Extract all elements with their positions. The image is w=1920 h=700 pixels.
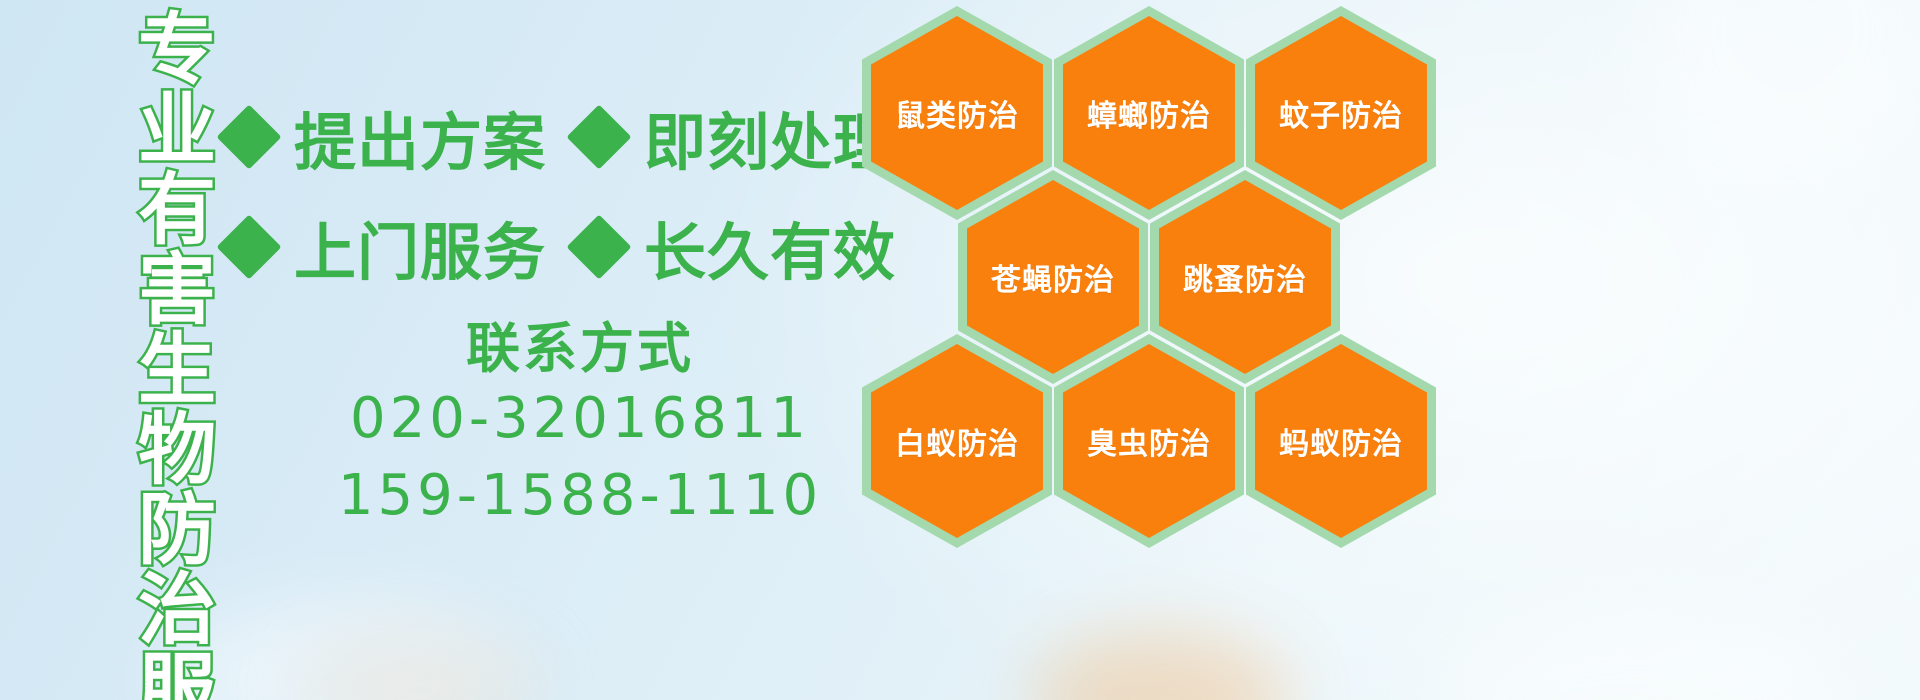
hex-label: 白蚁防治 <box>862 334 1052 548</box>
diamond-icon <box>566 104 631 169</box>
feature-row: 上门服务 长久有效 <box>226 192 866 302</box>
feature-label: 提出方案 <box>294 92 546 182</box>
hex-cell-termite[interactable]: 白蚁防治 <box>862 334 1052 548</box>
diamond-icon <box>566 214 631 279</box>
background-blur-blob <box>300 630 540 700</box>
hex-label: 蚂蚁防治 <box>1246 334 1436 548</box>
contact-title: 联系方式 <box>300 318 860 380</box>
feature-list: 提出方案 即刻处理 上门服务 长久有效 <box>226 82 866 302</box>
hex-label: 臭虫防治 <box>1054 334 1244 548</box>
feature-label: 即刻处理 <box>644 92 896 182</box>
background-blur-blob <box>1640 0 1920 180</box>
vertical-headline: 专业有害生物防治服务 <box>104 8 208 698</box>
hex-cell-bedbug[interactable]: 臭虫防治 <box>1054 334 1244 548</box>
feature-label: 上门服务 <box>294 202 546 292</box>
phone-number-mobile[interactable]: 159-1588-1110 <box>300 457 860 534</box>
phone-number-landline[interactable]: 020-32016811 <box>300 380 860 457</box>
background-blur-blob <box>1030 630 1290 700</box>
contact-block: 联系方式 020-32016811 159-1588-1110 <box>300 318 860 535</box>
pest-control-banner: 专业有害生物防治服务 提出方案 即刻处理 上门服务 长久有效 联系方式 020-… <box>0 0 1920 700</box>
feature-row: 提出方案 即刻处理 <box>226 82 866 192</box>
diamond-icon <box>216 214 281 279</box>
hex-cell-ant[interactable]: 蚂蚁防治 <box>1246 334 1436 548</box>
service-honeycomb: 鼠类防治 蟑螂防治 蚊子防治 苍蝇防治 跳蚤防治 白蚁防治 <box>862 0 1462 558</box>
background-blur-blob <box>1430 610 1850 700</box>
diamond-icon <box>216 104 281 169</box>
background-blur-blob <box>170 600 510 700</box>
feature-label: 长久有效 <box>644 202 896 292</box>
